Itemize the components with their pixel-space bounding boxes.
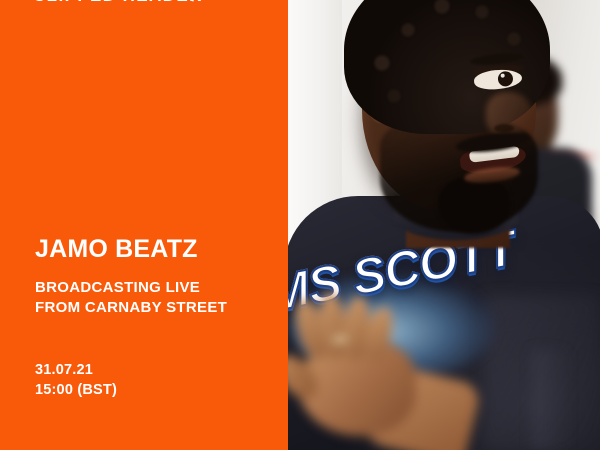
- triangle-mark-icon: [186, 0, 200, 2]
- subtitle-line-1: BROADCASTING LIVE: [35, 278, 227, 298]
- event-card: CLIPPED HEADER JAMO BEATZ BROADCASTING L…: [0, 0, 600, 450]
- person-pupil: [497, 71, 513, 87]
- tshirt-fold-secondary: [532, 350, 572, 450]
- orange-info-panel: CLIPPED HEADER JAMO BEATZ BROADCASTING L…: [0, 0, 288, 450]
- broadcast-time: 15:00 (BST): [35, 380, 117, 400]
- person-nostril: [494, 124, 514, 133]
- artist-photo: MS SCOTT: [288, 0, 600, 450]
- artist-name: JAMO BEATZ: [35, 236, 198, 263]
- foreground-person: MS SCOTT: [288, 0, 600, 450]
- gesturing-hand: [288, 294, 442, 450]
- broadcast-date: 31.07.21: [35, 360, 117, 380]
- subtitle-line-2: FROM CARNABY STREET: [35, 298, 227, 318]
- broadcast-datetime: 31.07.21 15:00 (BST): [35, 360, 117, 400]
- person-chin-beard: [438, 176, 510, 234]
- header-logo-text: CLIPPED HEADER: [33, 0, 203, 4]
- clipped-header-strip: CLIPPED HEADER: [0, 0, 288, 7]
- broadcast-subtitle: BROADCASTING LIVE FROM CARNABY STREET: [35, 278, 227, 318]
